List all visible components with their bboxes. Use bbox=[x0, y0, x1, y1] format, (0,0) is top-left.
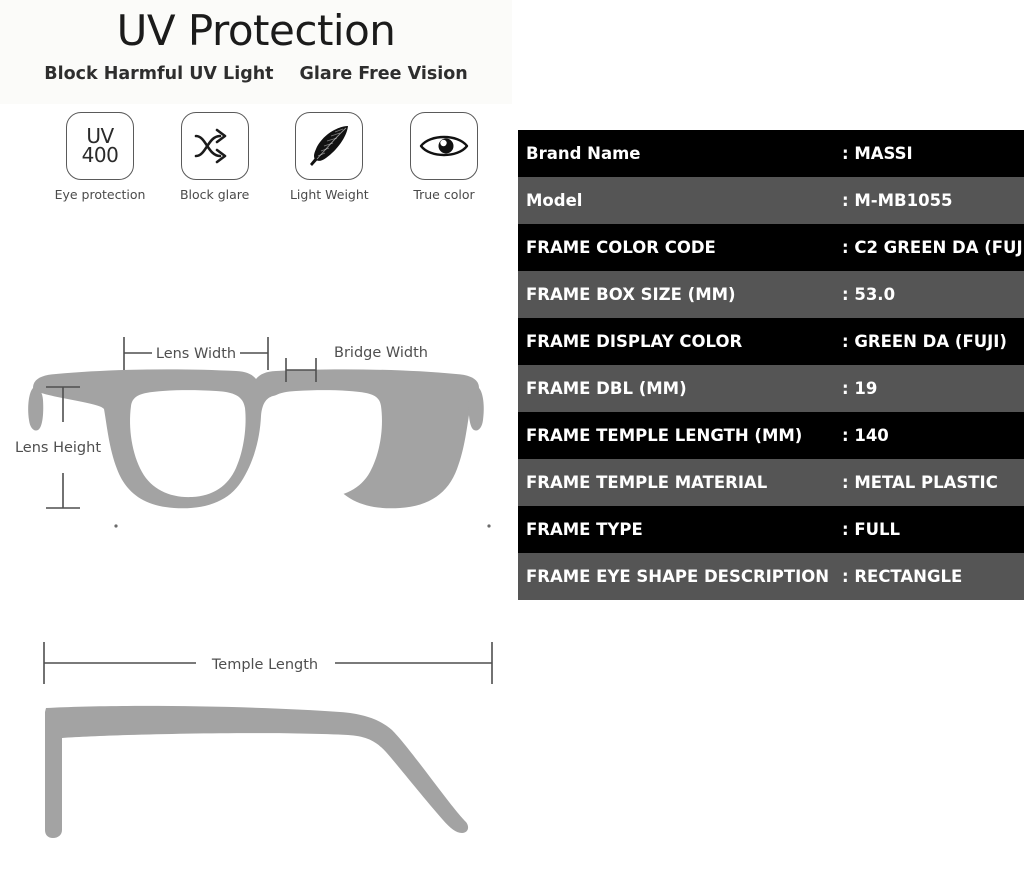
spec-value: : METAL PLASTIC bbox=[837, 459, 1024, 506]
spec-label: FRAME TEMPLE LENGTH (MM) bbox=[518, 412, 837, 459]
spec-label: FRAME EYE SHAPE DESCRIPTION bbox=[518, 553, 837, 600]
table-row: FRAME DISPLAY COLOR: GREEN DA (FUJI) bbox=[518, 318, 1024, 365]
eyeglasses-front-shape bbox=[28, 369, 484, 508]
feature-label-block-glare: Block glare bbox=[180, 187, 249, 202]
feature-label-light-weight: Light Weight bbox=[290, 187, 369, 202]
spec-label: FRAME BOX SIZE (MM) bbox=[518, 271, 837, 318]
table-row: Brand Name: MASSI bbox=[518, 130, 1024, 177]
spec-label: Brand Name bbox=[518, 130, 837, 177]
table-row: FRAME COLOR CODE: C2 GREEN DA (FUJI) bbox=[518, 224, 1024, 271]
uv400-line2: 400 bbox=[82, 146, 119, 165]
bridge-width-label: Bridge Width bbox=[334, 345, 428, 361]
spec-table-body: Brand Name: MASSIModel: M-MB1055FRAME CO… bbox=[518, 130, 1024, 600]
table-row: FRAME TYPE: FULL bbox=[518, 506, 1024, 553]
temple-arm-shape bbox=[45, 706, 468, 838]
spec-label: Model bbox=[518, 177, 837, 224]
feature-badge-row: UV 400 Eye protection Block glare bbox=[52, 112, 492, 202]
eyeglasses-front-measurement-diagram: Lens Width Bridge Width Lens Height bbox=[0, 330, 512, 550]
screw-dot-left bbox=[114, 524, 117, 527]
uv400-badge-icon: UV 400 bbox=[66, 112, 134, 180]
table-row: FRAME EYE SHAPE DESCRIPTION: RECTANGLE bbox=[518, 553, 1024, 600]
spec-value: : GREEN DA (FUJI) bbox=[837, 318, 1024, 365]
spec-label: FRAME COLOR CODE bbox=[518, 224, 837, 271]
table-row: Model: M-MB1055 bbox=[518, 177, 1024, 224]
subtitle-block-uv: Block Harmful UV Light bbox=[44, 64, 273, 84]
uv400-badge-text: UV 400 bbox=[82, 127, 119, 165]
feature-light-weight: Light Weight bbox=[281, 112, 377, 202]
lens-width-label: Lens Width bbox=[156, 346, 236, 362]
spec-value: : MASSI bbox=[837, 130, 1024, 177]
subtitle-glare-free: Glare Free Vision bbox=[300, 64, 468, 84]
spec-value: : 140 bbox=[837, 412, 1024, 459]
table-row: FRAME TEMPLE LENGTH (MM): 140 bbox=[518, 412, 1024, 459]
table-row: FRAME BOX SIZE (MM): 53.0 bbox=[518, 271, 1024, 318]
spec-label: FRAME TYPE bbox=[518, 506, 837, 553]
product-specification-table: Brand Name: MASSIModel: M-MB1055FRAME CO… bbox=[518, 130, 1024, 600]
feature-block-glare: Block glare bbox=[167, 112, 263, 202]
table-row: FRAME DBL (MM): 19 bbox=[518, 365, 1024, 412]
screw-dot-right bbox=[487, 524, 490, 527]
lens-height-label: Lens Height bbox=[15, 440, 101, 456]
spec-value: : 19 bbox=[837, 365, 1024, 412]
feature-label-eye-protection: Eye protection bbox=[55, 187, 146, 202]
spec-value: : RECTANGLE bbox=[837, 553, 1024, 600]
spec-value: : M-MB1055 bbox=[837, 177, 1024, 224]
table-row: FRAME TEMPLE MATERIAL: METAL PLASTIC bbox=[518, 459, 1024, 506]
header-subtitles: Block Harmful UV Light Glare Free Vision bbox=[0, 64, 512, 84]
spec-label: FRAME DISPLAY COLOR bbox=[518, 318, 837, 365]
spec-value: : C2 GREEN DA (FUJI) bbox=[837, 224, 1024, 271]
spec-label: FRAME DBL (MM) bbox=[518, 365, 837, 412]
feather-icon bbox=[295, 112, 363, 180]
spec-label: FRAME TEMPLE MATERIAL bbox=[518, 459, 837, 506]
product-info-panel: UV Protection Block Harmful UV Light Gla… bbox=[0, 0, 518, 886]
feature-label-true-color: True color bbox=[413, 187, 474, 202]
spec-value: : 53.0 bbox=[837, 271, 1024, 318]
eye-icon bbox=[410, 112, 478, 180]
spec-value: : FULL bbox=[837, 506, 1024, 553]
feature-eye-protection: UV 400 Eye protection bbox=[52, 112, 148, 202]
feature-true-color: True color bbox=[396, 112, 492, 202]
page-title: UV Protection bbox=[0, 6, 512, 55]
eyeglasses-temple-measurement-diagram: Temple Length bbox=[0, 632, 512, 847]
temple-length-label: Temple Length bbox=[211, 657, 318, 673]
shuffle-arrows-icon bbox=[181, 112, 249, 180]
